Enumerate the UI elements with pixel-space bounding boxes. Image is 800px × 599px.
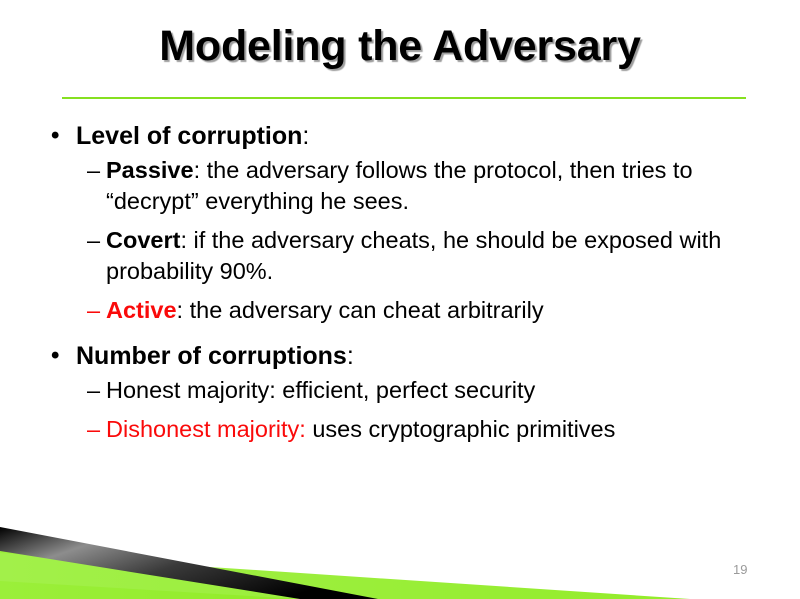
dash-icon: –: [87, 414, 100, 445]
dash-icon: –: [87, 225, 100, 256]
sub-bullet-description: : if the adversary cheats, he should be …: [106, 227, 721, 284]
dash-icon: –: [87, 375, 100, 406]
footer-dark-band: [0, 527, 378, 599]
bullet-number-of-corruptions: •Number of corruptions:: [44, 342, 774, 371]
title-divider: [62, 97, 746, 99]
sub-bullet-term: Dishonest majority:: [106, 416, 306, 442]
page-number: 19: [733, 562, 747, 577]
slide-body: •Level of corruption: –Passive: the adve…: [44, 122, 774, 453]
sub-bullet-term: Covert: [106, 227, 180, 253]
dash-icon: –: [87, 295, 100, 326]
slide: Modeling the Adversary •Level of corrupt…: [0, 0, 800, 599]
sub-bullet-description: Honest majority: efficient, perfect secu…: [106, 377, 535, 403]
footer-green-wedge-right: [0, 553, 690, 599]
footer-decoration: [0, 509, 800, 599]
bullet-dot-icon: •: [51, 342, 59, 370]
bullet-level-of-corruption: •Level of corruption:: [44, 122, 774, 151]
bullet-dot-icon: •: [51, 122, 59, 150]
dash-icon: –: [87, 155, 100, 186]
sub-bullet-covert: –Covert: if the adversary cheats, he sho…: [44, 225, 774, 287]
sub-bullet-dishonest-majority: –Dishonest majority: uses cryptographic …: [44, 414, 774, 445]
bullet-text-plain: :: [302, 122, 309, 150]
bullet-text-bold: Number of corruptions: [76, 342, 347, 370]
sub-bullet-honest-majority: –Honest majority: efficient, perfect sec…: [44, 375, 774, 406]
sub-bullet-term: Active: [106, 297, 177, 323]
sub-bullet-term: Passive: [106, 157, 194, 183]
bullet-text-bold: Level of corruption: [76, 122, 302, 150]
footer-green-wedge-left: [0, 545, 372, 599]
page-title: Modeling the Adversary: [0, 22, 800, 71]
bullet-text-plain: :: [347, 342, 354, 370]
sub-bullet-description: : the adversary can cheat arbitrarily: [177, 297, 544, 323]
sub-bullet-description: uses cryptographic primitives: [306, 416, 616, 442]
sub-bullet-description: : the adversary follows the protocol, th…: [106, 157, 693, 214]
sub-bullet-active: –Active: the adversary can cheat arbitra…: [44, 295, 774, 326]
sub-bullet-passive: –Passive: the adversary follows the prot…: [44, 155, 774, 217]
